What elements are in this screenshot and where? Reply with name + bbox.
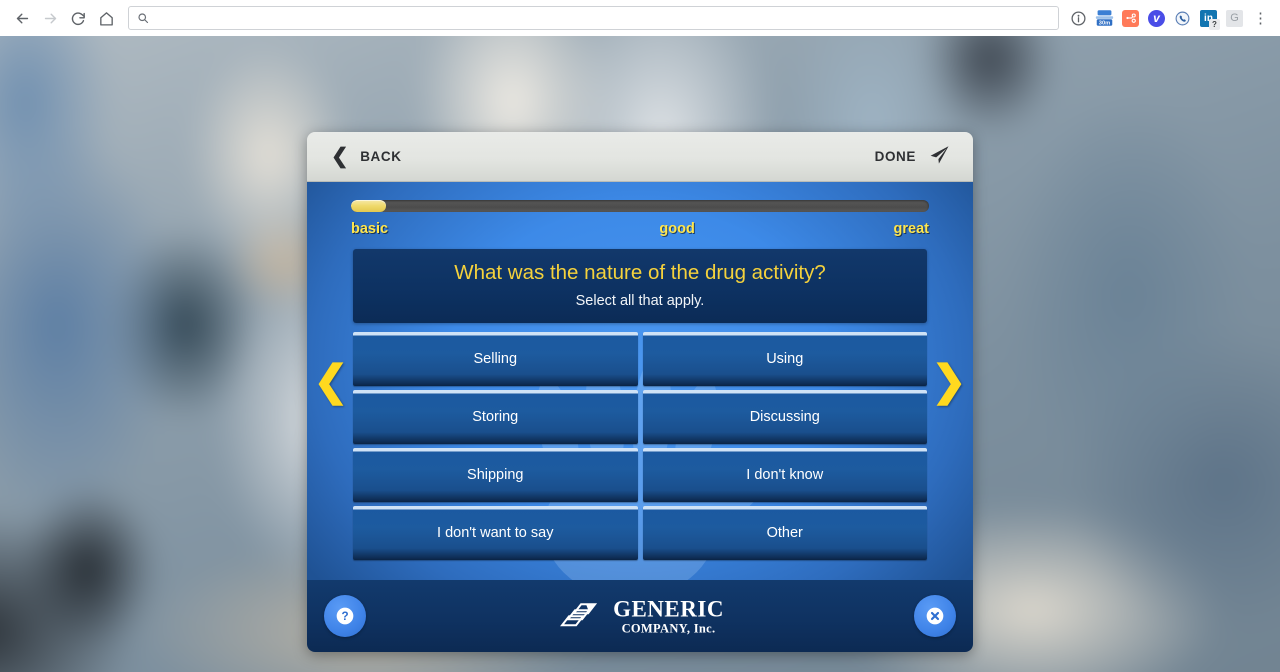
app-body: basic good great What was the nature of … [307,182,973,580]
option-button[interactable]: I don't know [643,448,928,502]
browser-back-button[interactable] [8,4,36,32]
page-background: ❮ BACK DONE [0,36,1280,672]
option-button[interactable]: I don't want to say [353,506,638,560]
progress-bar[interactable] [351,200,929,212]
grammarly-extension-icon[interactable]: G [1225,9,1244,28]
chevron-left-icon: ❮ [331,146,349,167]
option-button[interactable]: Selling [353,332,638,386]
browser-reload-button[interactable] [64,4,92,32]
address-bar[interactable] [128,6,1059,30]
three-dot-menu-icon[interactable]: ⋮ [1251,9,1270,28]
done-button-label: DONE [875,149,916,164]
timer-extension-icon[interactable]: 30m [1095,9,1114,28]
option-button[interactable]: Other [643,506,928,560]
question-mark-icon: ? [335,606,355,626]
app-footer: ? GENERIC COMPANY, Inc. [307,580,973,652]
browser-toolbar: 30m v in? G ⋮ [0,0,1280,36]
linkedin-badge: ? [1209,19,1220,30]
help-button[interactable]: ? [324,595,366,637]
question-title: What was the nature of the drug activity… [363,261,917,286]
question-panel: What was the nature of the drug activity… [353,249,927,323]
options-wrapper: Selling Using Storing Discussing Shippin… [353,332,927,560]
progress-labels: basic good great [351,221,929,237]
svg-text:30m: 30m [1099,21,1110,27]
back-button-label: BACK [360,149,401,164]
browser-home-button[interactable] [92,4,120,32]
svg-text:?: ? [341,610,348,623]
option-button[interactable]: Shipping [353,448,638,502]
option-button[interactable]: Using [643,332,928,386]
home-icon [98,10,115,27]
company-logo: GENERIC COMPANY, Inc. [556,597,724,635]
logo-company-sub: COMPANY, Inc. [622,622,716,635]
options-grid: Selling Using Storing Discussing Shippin… [353,332,927,560]
app-header: ❮ BACK DONE [307,132,973,182]
progress-label-basic: basic [351,221,388,237]
back-button[interactable]: ❮ BACK [331,146,402,167]
hubspot-extension-icon[interactable] [1121,9,1140,28]
logo-company-name: GENERIC [613,597,724,620]
reload-icon [70,10,87,27]
linkedin-extension-icon[interactable]: in? [1199,9,1218,28]
extension-tray: 30m v in? G ⋮ [1069,9,1272,28]
vidyard-extension-icon[interactable]: v [1147,9,1166,28]
next-question-arrow[interactable]: ❯ [929,353,969,409]
question-subtitle: Select all that apply. [363,293,917,309]
progress-label-good: good [659,221,694,237]
survey-app-card: ❮ BACK DONE [307,132,973,652]
paper-plane-icon [927,143,951,170]
info-circle-icon[interactable] [1069,9,1088,28]
address-input[interactable] [155,11,1050,25]
forward-arrow-icon [42,10,59,27]
close-x-icon [925,606,945,626]
option-button[interactable]: Storing [353,390,638,444]
done-button[interactable]: DONE [875,143,951,170]
search-icon [137,12,149,24]
option-button[interactable]: Discussing [643,390,928,444]
progress-area: basic good great [307,182,973,237]
browser-forward-button[interactable] [36,4,64,32]
back-arrow-icon [14,10,31,27]
progress-label-great: great [894,221,929,237]
logo-text: GENERIC COMPANY, Inc. [613,597,724,635]
logo-mark-icon [556,598,604,634]
close-button[interactable] [914,595,956,637]
progress-bar-fill [351,200,386,212]
previous-question-arrow[interactable]: ❮ [311,353,351,409]
phone-extension-icon[interactable] [1173,9,1192,28]
